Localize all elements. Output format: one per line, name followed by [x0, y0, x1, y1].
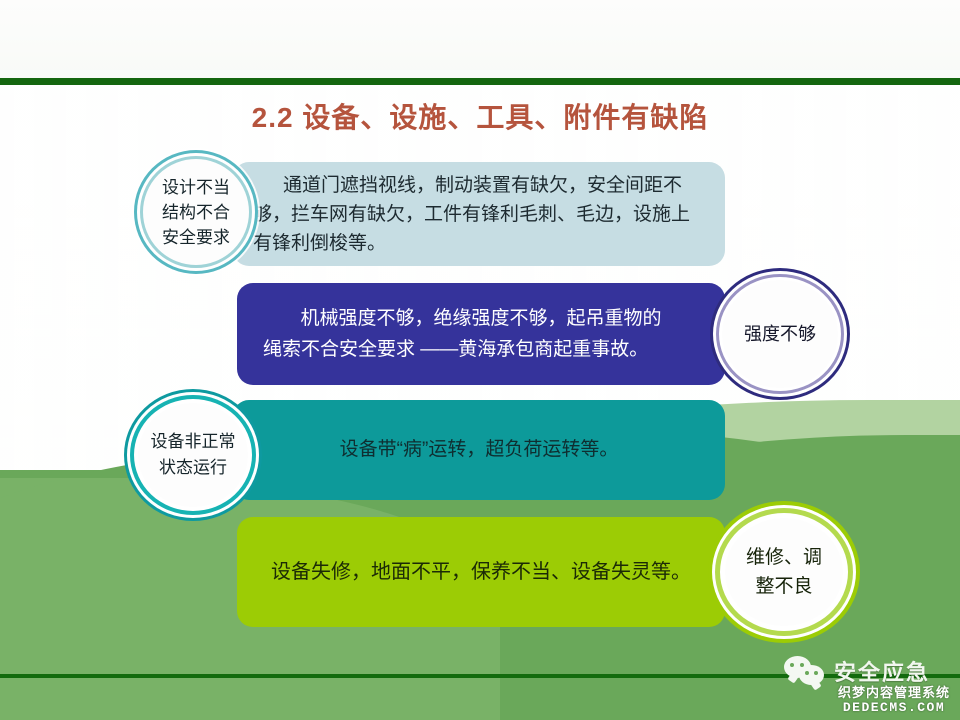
badge-design-defect-line2: 结构不合: [162, 200, 230, 225]
watermark-en: DEDECMS.COM: [838, 701, 950, 714]
badge-abnormal-operation: 设备非正常 状态运行: [134, 399, 252, 511]
badge-design-defect: 设计不当 结构不合 安全要求: [140, 156, 252, 268]
content-bar-poor-maintenance: 设备失修，地面不平，保养不当、设备失灵等。: [237, 517, 725, 627]
badge-insufficient-strength: 强度不够: [719, 277, 841, 391]
top-white-band: [0, 0, 960, 78]
top-green-rule: [0, 78, 960, 85]
content-text-poor-maintenance: 设备失修，地面不平，保养不当、设备失灵等。: [255, 557, 707, 587]
footer-brand: 安全应急: [784, 655, 930, 687]
watermark-cn: 织梦内容管理系统: [838, 686, 950, 699]
badge-design-defect-line1: 设计不当: [162, 175, 230, 200]
badge-abnormal-operation-line2: 状态运行: [151, 455, 236, 481]
badge-insufficient-strength-label: 强度不够: [744, 321, 816, 347]
badge-poor-maintenance-line2: 整不良: [746, 572, 822, 601]
content-text-insufficient-strength-line1: 机械强度不够，绝缘强度不够，起吊重物的: [300, 308, 661, 329]
content-bar-design-defect: 通道门遮挡视线，制动装置有缺欠，安全间距不够，拦车网有缺欠，工件有锋利毛刺、毛边…: [233, 162, 725, 266]
content-text-insufficient-strength-line2: 绳索不合安全要求 ——黄海承包商起重事故。: [255, 334, 707, 365]
badge-abnormal-operation-line1: 设备非正常: [151, 429, 236, 455]
content-bar-abnormal-operation: 设备带“病”运转，超负荷运转等。: [233, 400, 725, 500]
badge-poor-maintenance-line1: 维修、调: [746, 543, 822, 572]
footer-brand-name: 安全应急: [834, 655, 930, 687]
content-bar-insufficient-strength: 机械强度不够，绝缘强度不够，起吊重物的 绳索不合安全要求 ——黄海承包商起重事故…: [237, 283, 725, 385]
badge-poor-maintenance: 维修、调 整不良: [720, 513, 848, 631]
content-text-design-defect: 通道门遮挡视线，制动装置有缺欠，安全间距不够，拦车网有缺欠，工件有锋利毛刺、毛边…: [253, 171, 707, 258]
wechat-icon: [784, 656, 826, 686]
watermark: 织梦内容管理系统 DEDECMS.COM: [838, 686, 950, 714]
content-text-insufficient-strength: 机械强度不够，绝缘强度不够，起吊重物的 绳索不合安全要求 ——黄海承包商起重事故…: [255, 303, 707, 365]
slide-canvas: 2.2 设备、设施、工具、附件有缺陷 通道门遮挡视线，制动装置有缺欠，安全间距不…: [0, 0, 960, 720]
badge-design-defect-line3: 安全要求: [162, 225, 230, 250]
content-text-abnormal-operation: 设备带“病”运转，超负荷运转等。: [251, 436, 707, 464]
page-title: 2.2 设备、设施、工具、附件有缺陷: [0, 96, 960, 136]
